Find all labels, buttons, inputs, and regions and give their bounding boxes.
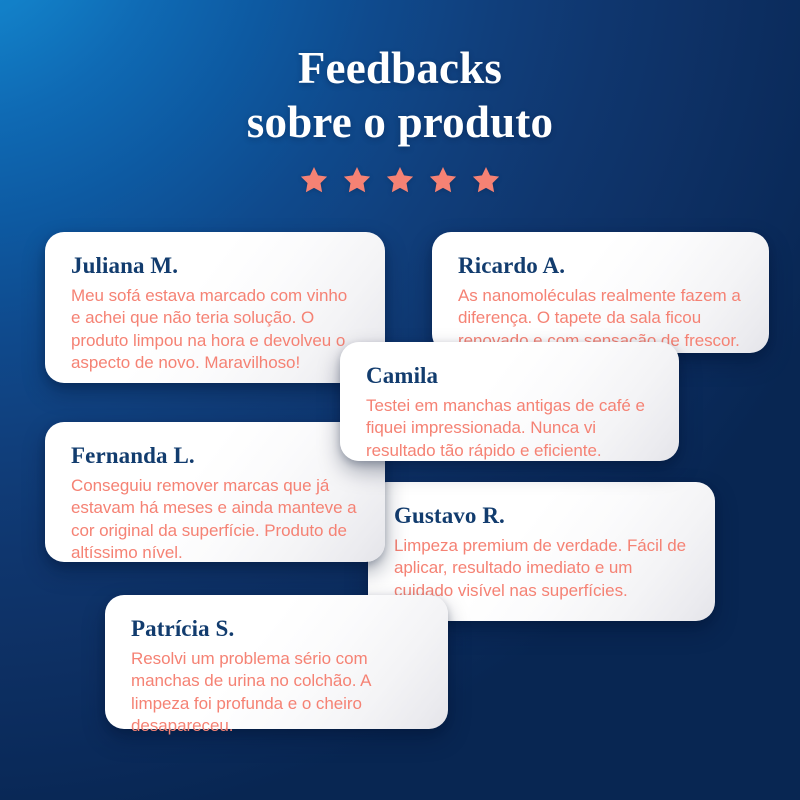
testimonial-body-text: Resolvi um problema sério com manchas de… [131,648,422,738]
star-icon [428,165,458,195]
testimonial-author-name: Camila [366,363,653,389]
testimonial-author-name: Gustavo R. [394,503,689,529]
star-icon [342,165,372,195]
testimonial-body-text: Conseguiu remover marcas que já estavam … [71,475,359,565]
testimonial-author-name: Patrícia S. [131,616,422,642]
page-title: Feedbacks sobre o produto [0,0,800,149]
testimonial-author-name: Juliana M. [71,253,359,279]
testimonial-card: Fernanda L. Conseguiu remover marcas que… [45,422,385,562]
star-icon [385,165,415,195]
testimonial-body-text: Meu sofá estava marcado com vinho e ache… [71,285,359,375]
testimonial-body-text: Limpeza premium de verdade. Fácil de apl… [394,535,689,602]
testimonial-author-name: Fernanda L. [71,443,359,469]
testimonial-card: Ricardo A. As nanomoléculas realmente fa… [432,232,769,353]
testimonial-card: Camila Testei em manchas antigas de café… [340,342,679,461]
testimonial-author-name: Ricardo A. [458,253,743,279]
testimonials-poster: Feedbacks sobre o produto Juliana M. Meu… [0,0,800,800]
testimonial-body-text: Testei em manchas antigas de café e fiqu… [366,395,653,462]
page-title-line-2: sobre o produto [0,96,800,150]
testimonial-card: Juliana M. Meu sofá estava marcado com v… [45,232,385,383]
poster-header: Feedbacks sobre o produto [0,0,800,195]
page-title-line-1: Feedbacks [0,42,800,96]
star-icon [299,165,329,195]
rating-stars [0,165,800,195]
testimonial-card: Patrícia S. Resolvi um problema sério co… [105,595,448,729]
star-icon [471,165,501,195]
